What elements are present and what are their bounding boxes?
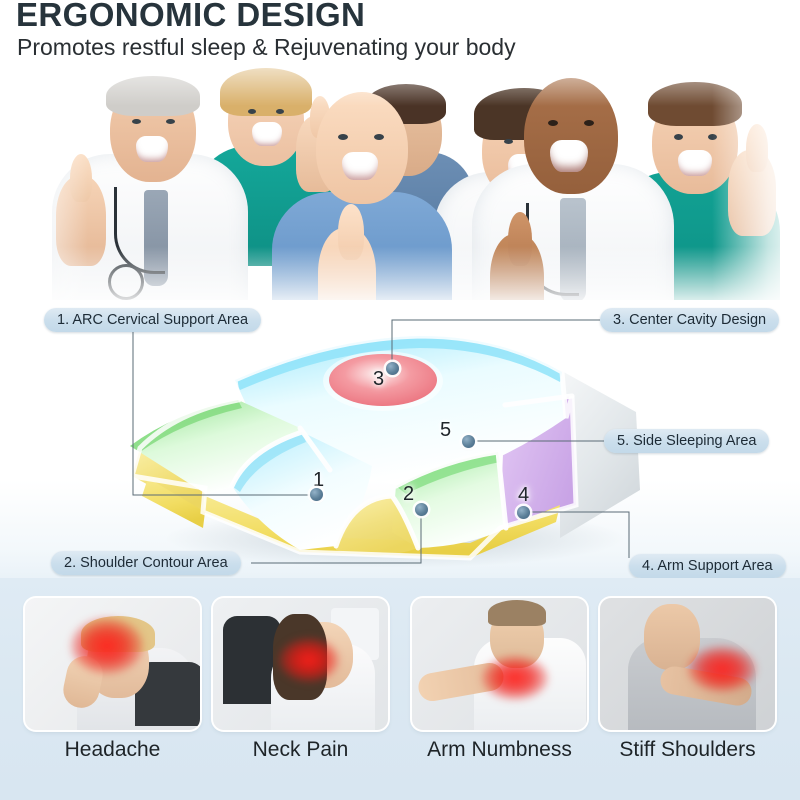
marker-number-2: 2 (403, 483, 414, 506)
marker-number-5: 5 (440, 419, 451, 442)
callout-label-3[interactable]: 3. Center Cavity Design (600, 308, 779, 332)
marker-dot-2[interactable] (415, 503, 428, 516)
marker-dot-5[interactable] (462, 435, 475, 448)
page-title: ERGONOMIC DESIGN (16, 0, 365, 32)
person-senior-doctor (52, 66, 257, 322)
callout-label-5[interactable]: 5. Side Sleeping Area (604, 429, 769, 453)
person-blonde-nurse-front (262, 54, 462, 322)
page-subtitle: Promotes restful sleep & Rejuvenating yo… (17, 34, 516, 61)
symptom-caption-arm-numbness: Arm Numbness (412, 738, 587, 762)
symptom-caption-neck-pain: Neck Pain (213, 738, 388, 762)
symptom-card-neck-pain[interactable] (213, 598, 388, 730)
person-male-doctor-front (468, 52, 678, 322)
medical-team-photo (0, 52, 800, 322)
symptom-card-arm-numbness[interactable] (412, 598, 587, 730)
callout-label-1[interactable]: 1. ARC Cervical Support Area (44, 308, 261, 332)
pillow-diagram-section: 1. ARC Cervical Support Area 3. Center C… (0, 300, 800, 590)
marker-dot-3[interactable] (386, 362, 399, 375)
infographic-page: ERGONOMIC DESIGN Promotes restful sleep … (0, 0, 800, 800)
symptom-card-stiff-shoulders[interactable] (600, 598, 775, 730)
marker-number-4: 4 (518, 484, 529, 507)
marker-dot-4[interactable] (517, 506, 530, 519)
callout-label-4[interactable]: 4. Arm Support Area (629, 554, 786, 578)
header: ERGONOMIC DESIGN Promotes restful sleep … (0, 0, 800, 70)
symptom-cards-section: Headache Neck Pain Arm Numbness (0, 578, 800, 800)
symptom-card-headache[interactable] (25, 598, 200, 730)
marker-dot-1[interactable] (310, 488, 323, 501)
symptom-caption-headache: Headache (25, 738, 200, 762)
callout-label-2[interactable]: 2. Shoulder Contour Area (51, 551, 241, 575)
symptom-caption-stiff-shoulders: Stiff Shoulders (600, 738, 775, 762)
marker-number-3: 3 (373, 368, 384, 391)
